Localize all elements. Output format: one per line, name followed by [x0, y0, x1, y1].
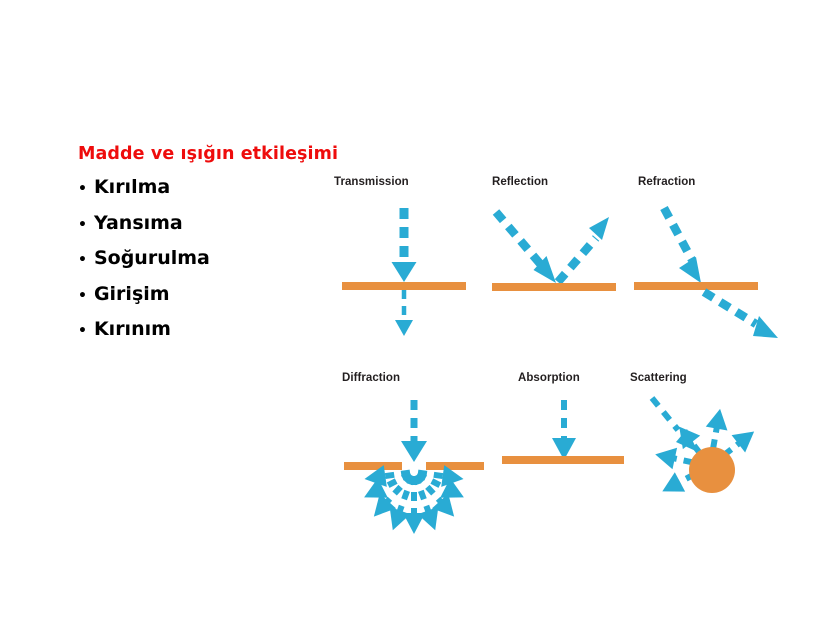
bullet-marker-icon: •: [78, 280, 87, 314]
scattered-ray: [653, 444, 695, 473]
panel-label-transmission: Transmission: [334, 176, 409, 188]
refracted-arrowhead-icon: [753, 316, 778, 338]
panel-transmission: Transmission: [334, 176, 474, 336]
refracted-ray: [704, 292, 756, 324]
surface-bar-left: [344, 462, 402, 470]
page-title: Madde ve ışığın etkileşimi: [78, 143, 338, 165]
panel-absorption: Absorption: [486, 372, 636, 492]
diagram-refraction: [626, 190, 786, 350]
surface-bar: [634, 282, 758, 290]
surface-bar: [502, 456, 624, 464]
scattered-ray: [702, 407, 731, 450]
panel-diffraction: Diffraction: [334, 372, 504, 548]
transmitted-arrowhead-icon: [395, 320, 413, 336]
surface-bar: [492, 283, 616, 291]
slide-canvas: Madde ve ışığın etkileşimi • Kırılma • Y…: [0, 0, 828, 621]
particle-circle: [689, 447, 735, 493]
diagram-absorption: [486, 386, 636, 486]
bullet-marker-icon: •: [78, 315, 87, 349]
diffracted-ray: [403, 476, 425, 534]
concept-list: • Kırılma • Yansıma • Soğurulma • Girişi…: [78, 171, 338, 349]
panel-label-diffraction: Diffraction: [342, 372, 400, 384]
incident-ray: [652, 398, 678, 430]
bullet-marker-icon: •: [78, 173, 87, 207]
panel-label-refraction: Refraction: [638, 176, 695, 188]
list-item-label: Girişim: [94, 278, 170, 312]
bullet-marker-icon: •: [78, 244, 87, 278]
incident-ray: [496, 212, 542, 266]
light-matter-figure: Transmission Reflection: [326, 176, 786, 548]
incident-arrowhead-icon: [392, 262, 417, 282]
panel-scattering: Scattering: [626, 372, 786, 512]
list-item: • Girişim: [78, 278, 338, 314]
reflected-arrowhead-icon: [589, 217, 609, 240]
panel-refraction: Refraction: [626, 176, 786, 346]
list-item: • Soğurulma: [78, 242, 338, 278]
bullet-marker-icon: •: [78, 209, 87, 243]
list-item-label: Yansıma: [94, 207, 183, 241]
panel-label-reflection: Reflection: [492, 176, 548, 188]
diagram-reflection: [478, 190, 628, 340]
list-item: • Kırınım: [78, 313, 338, 349]
diagram-scattering: [626, 386, 786, 516]
text-column: Madde ve ışığın etkileşimi • Kırılma • Y…: [78, 143, 338, 349]
panel-reflection: Reflection: [478, 176, 628, 336]
incident-arrowhead-icon: [401, 441, 427, 462]
list-item: • Kırılma: [78, 171, 338, 207]
diagram-diffraction: [334, 386, 504, 548]
list-item: • Yansıma: [78, 207, 338, 243]
panel-label-scattering: Scattering: [630, 372, 687, 384]
incident-arrowhead-icon: [679, 257, 701, 283]
list-item-label: Kırınım: [94, 313, 171, 347]
list-item-label: Kırılma: [94, 171, 170, 205]
diffracted-ray-fan: [359, 462, 469, 534]
surface-bar: [342, 282, 466, 290]
surface-bar-right: [426, 462, 484, 470]
diagram-transmission: [334, 190, 474, 340]
list-item-label: Soğurulma: [94, 242, 210, 276]
reflected-ray: [558, 238, 596, 282]
incident-ray: [664, 208, 692, 260]
panel-label-absorption: Absorption: [518, 372, 580, 384]
